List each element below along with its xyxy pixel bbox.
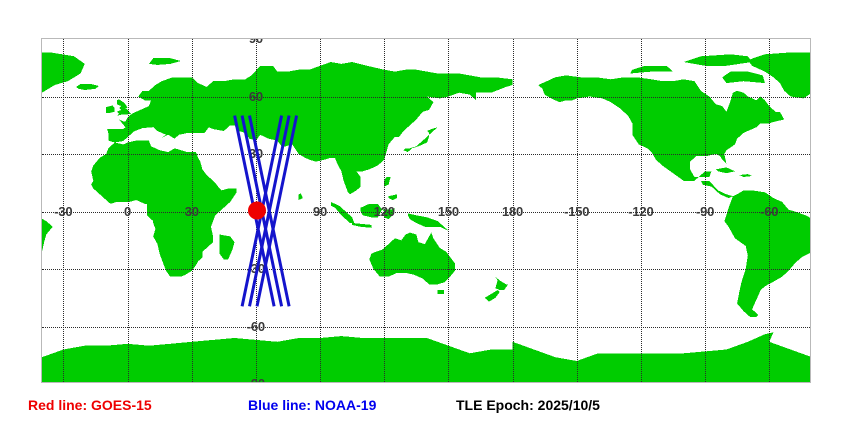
landmass-polygon [630, 66, 673, 74]
satellite-ground-track-view: -300306090120150180-150-120-90-60906030-… [0, 0, 850, 425]
longitude-tick-label: 0 [124, 205, 131, 219]
landmass-polygon [76, 84, 99, 90]
longitude-tick-label: -90 [696, 205, 714, 219]
longitude-tick-label: -60 [760, 205, 778, 219]
landmass-polygon [106, 106, 115, 113]
gridline-latitude [42, 269, 811, 270]
landmass-polygon [369, 233, 455, 285]
landmass-polygon [716, 167, 735, 173]
world-map: -300306090120150180-150-120-90-60906030-… [41, 38, 811, 383]
landmass-polygon [485, 290, 500, 302]
landmass-polygon [42, 332, 513, 383]
landmass-polygon [404, 127, 438, 152]
longitude-tick-label: 150 [438, 205, 459, 219]
longitude-tick-label: 180 [502, 205, 523, 219]
legend-red-line: Red line: GOES-15 [28, 396, 152, 414]
latitude-tick-label: 90 [249, 38, 263, 46]
latitude-tick-label: -30 [247, 262, 265, 276]
landmass-polygon [538, 75, 784, 180]
latitude-tick-label: -90 [247, 377, 265, 383]
longitude-tick-label: 120 [374, 205, 395, 219]
landmass-polygon [42, 190, 53, 317]
landmass-polygon [684, 54, 752, 66]
latitude-tick-label: 30 [249, 147, 263, 161]
landmass-polygon [117, 99, 131, 115]
landmass-polygon [91, 141, 236, 277]
longitude-tick-label: 30 [185, 205, 199, 219]
longitude-tick-label: 60 [249, 205, 263, 219]
landmass-polygon [352, 223, 371, 228]
landmass-polygon [438, 290, 444, 294]
latitude-tick-label: 60 [249, 90, 263, 104]
landmass-polygon [299, 193, 303, 200]
gridline-latitude [42, 154, 811, 155]
landmass-polygon [513, 332, 811, 383]
landmass-polygon [149, 58, 181, 65]
landmass-polygon [389, 194, 398, 200]
longitude-tick-label: -120 [628, 205, 653, 219]
longitude-tick-label: -150 [564, 205, 589, 219]
landmass-polygon [739, 174, 752, 177]
gridline-latitude [42, 327, 811, 328]
legend-tle-epoch: TLE Epoch: 2025/10/5 [456, 396, 600, 414]
legend-blue-line: Blue line: NOAA-19 [248, 396, 376, 414]
legend-caption: Red line: GOES-15 Blue line: NOAA-19 TLE… [0, 396, 850, 418]
longitude-tick-label: 90 [313, 205, 327, 219]
longitude-tick-label: -30 [54, 205, 72, 219]
landmass-polygon [220, 235, 235, 260]
latitude-tick-label: -60 [247, 320, 265, 334]
landmass-polygon [722, 72, 765, 84]
gridline-latitude [42, 97, 811, 98]
landmass-polygon [495, 277, 508, 290]
